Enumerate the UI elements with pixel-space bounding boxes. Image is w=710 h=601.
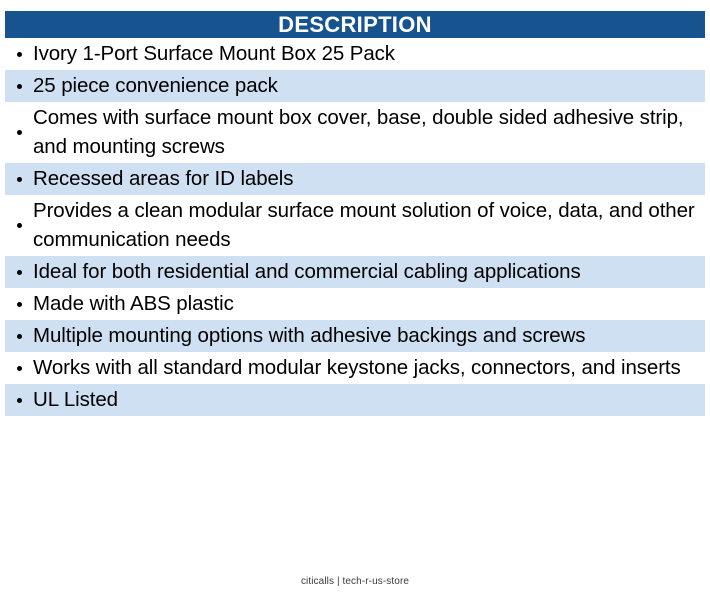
table-row-text: UL Listed [33, 384, 705, 416]
table-row-text: Ivory 1-Port Surface Mount Box 25 Pack [33, 38, 705, 70]
table-row-text: Works with all standard modular keystone… [33, 352, 705, 384]
footer: citicalls | tech-r-us-store [0, 576, 710, 588]
bullet-icon [5, 70, 33, 102]
bullet-icon [5, 38, 33, 70]
bullet-dot-icon [17, 398, 22, 403]
table-row-text: Recessed areas for ID labels [33, 163, 705, 195]
table-row: Ivory 1-Port Surface Mount Box 25 Pack [5, 38, 705, 70]
bullet-icon [5, 384, 33, 416]
table-row-text: Made with ABS plastic [33, 288, 705, 320]
table-row: Made with ABS plastic [5, 288, 705, 320]
bullet-icon [5, 352, 33, 384]
bullet-icon [5, 320, 33, 352]
footer-store-credit: citicalls | tech-r-us-store [0, 576, 710, 588]
bullet-dot-icon [17, 270, 22, 275]
bullet-icon [5, 256, 33, 288]
bullet-icon [5, 102, 33, 163]
bullet-dot-icon [17, 223, 22, 228]
description-rows: Ivory 1-Port Surface Mount Box 25 Pack25… [5, 38, 705, 416]
table-row: Works with all standard modular keystone… [5, 352, 705, 384]
description-table: DESCRIPTION Ivory 1-Port Surface Mount B… [5, 11, 705, 416]
table-row-text: Comes with surface mount box cover, base… [33, 102, 705, 163]
bullet-icon [5, 163, 33, 195]
bullet-dot-icon [17, 52, 22, 57]
bullet-dot-icon [17, 302, 22, 307]
table-row: Recessed areas for ID labels [5, 163, 705, 195]
table-row-text: Provides a clean modular surface mount s… [33, 195, 705, 256]
table-row: 25 piece convenience pack [5, 70, 705, 102]
bullet-dot-icon [17, 84, 22, 89]
table-header-title: DESCRIPTION [278, 14, 432, 36]
table-row: Ideal for both residential and commercia… [5, 256, 705, 288]
table-row: UL Listed [5, 384, 705, 416]
bullet-dot-icon [17, 334, 22, 339]
bullet-icon [5, 195, 33, 256]
table-row: Provides a clean modular surface mount s… [5, 195, 705, 256]
table-row-text: 25 piece convenience pack [33, 70, 705, 102]
table-row: Comes with surface mount box cover, base… [5, 102, 705, 163]
table-row: Multiple mounting options with adhesive … [5, 320, 705, 352]
bullet-dot-icon [17, 177, 22, 182]
bullet-icon [5, 288, 33, 320]
bullet-dot-icon [17, 130, 22, 135]
table-row-text: Ideal for both residential and commercia… [33, 256, 705, 288]
table-row-text: Multiple mounting options with adhesive … [33, 320, 705, 352]
bullet-dot-icon [17, 366, 22, 371]
product-description-page: DESCRIPTION Ivory 1-Port Surface Mount B… [0, 0, 710, 601]
table-header: DESCRIPTION [5, 11, 705, 38]
